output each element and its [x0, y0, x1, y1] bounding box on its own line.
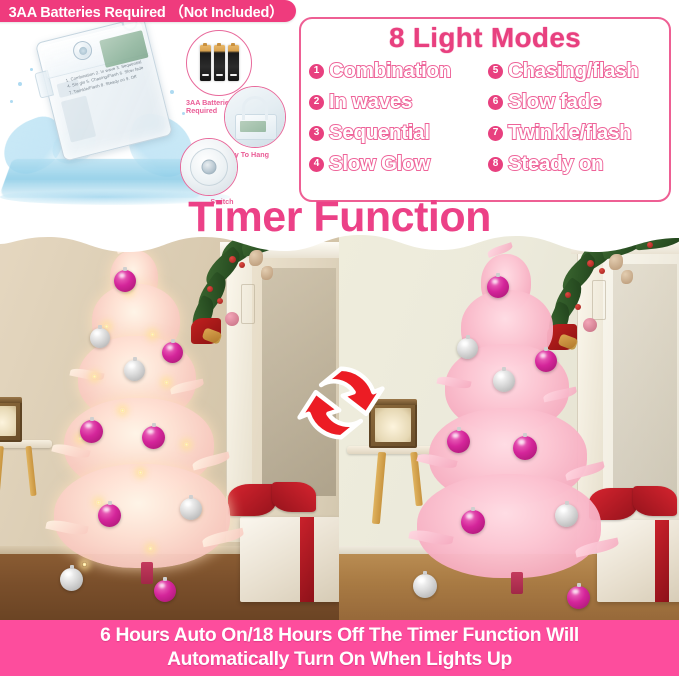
gift-ribbon	[300, 517, 314, 602]
mode-label: Steady on	[508, 152, 603, 176]
ornament-cap	[152, 423, 156, 427]
ornament-cap	[70, 565, 74, 569]
ornament-silver	[457, 338, 478, 359]
garland-pinecone	[261, 266, 273, 280]
ornament-cap	[577, 583, 581, 587]
table-leg	[0, 446, 4, 512]
ornament-cap	[90, 417, 94, 421]
ornament-silver	[124, 360, 145, 381]
led-bulb	[138, 470, 143, 475]
led-bulb	[164, 380, 169, 385]
garland-pinecone	[249, 250, 263, 266]
christmas-tree-lights-off	[417, 254, 617, 606]
christmas-tree-lights-on	[52, 250, 242, 602]
table-leg	[25, 446, 36, 496]
hanging-loop-icon	[242, 96, 268, 120]
mode-label: Slow fade	[508, 90, 601, 114]
ornament-pink	[535, 350, 557, 372]
mode-number-badge: 7	[488, 126, 503, 141]
tree-layer	[417, 474, 601, 578]
banner-line-1: 6 Hours Auto On/18 Hours Off The Timer F…	[100, 624, 579, 648]
ornament-cap	[466, 335, 470, 339]
mode-number-badge: 1	[309, 64, 324, 79]
led-bulb	[96, 500, 101, 505]
led-bulb	[150, 332, 155, 337]
mode-label: Chasing/flash	[508, 59, 639, 83]
ornament-silver	[90, 328, 110, 348]
batteries-required-text: 3AA Batteries Required （Not Included）	[9, 1, 284, 22]
ornament-cap	[471, 507, 475, 511]
ornament-pink	[98, 504, 121, 527]
banner-line-2: Automatically Turn On When Lights Up	[167, 648, 512, 672]
led-bulb	[82, 562, 87, 567]
ornament-pink	[142, 426, 165, 449]
lantern-decor	[0, 400, 22, 442]
mode-label: Twinkle/flash	[508, 121, 631, 145]
ornament-cap	[523, 433, 527, 437]
light-modes-panel: 8 Light Modes 1 Combination 5 Chasing/fl…	[299, 17, 671, 202]
ornament-pink	[447, 430, 470, 453]
table-leg	[372, 452, 386, 524]
water-droplet	[182, 112, 185, 115]
ornament-pink	[567, 586, 590, 609]
room-scene-right	[339, 232, 679, 620]
tree-layer	[54, 464, 230, 568]
switch-button-icon	[202, 160, 217, 175]
gift-box-left	[240, 517, 340, 602]
lantern-glass	[0, 406, 16, 436]
ornament-cap	[163, 577, 167, 581]
aa-batteries-icon	[187, 31, 251, 95]
ornament-silver	[180, 498, 202, 520]
refresh-cycle-icon	[296, 358, 386, 448]
photo-lights-off	[339, 232, 679, 620]
mode-item-6: 6 Slow fade	[488, 87, 663, 117]
mode-item-8: 8 Steady on	[488, 149, 663, 179]
led-bulb	[120, 408, 125, 413]
ornament-cap	[502, 367, 506, 371]
mode-item-5: 5 Chasing/flash	[488, 56, 663, 86]
ornament-silver	[555, 504, 578, 527]
ornament-cap	[123, 267, 127, 271]
side-table-left	[0, 382, 56, 532]
mode-number-badge: 3	[309, 126, 324, 141]
led-bulb	[148, 546, 153, 551]
battery-icon	[228, 45, 239, 81]
timer-function-title: Timer Function	[0, 196, 679, 239]
ornament-cap	[171, 339, 175, 343]
mode-item-7: 7 Twinkle/flash	[488, 118, 663, 148]
mode-label: Sequential	[329, 121, 430, 145]
ornament-cap	[108, 501, 112, 505]
ornament-cap	[496, 273, 500, 277]
infographic-page: 1. Combination 2. In wave 3. Sequential …	[0, 0, 679, 676]
ornament-cap	[423, 571, 427, 575]
batteries-required-banner: 3AA Batteries Required （Not Included）	[0, 0, 296, 22]
ornament-cap	[133, 357, 137, 361]
water-droplet	[170, 90, 174, 94]
mode-number-badge: 8	[488, 157, 503, 172]
hang-box-chip	[240, 121, 266, 132]
mode-number-badge: 4	[309, 157, 324, 172]
ornament-cap	[544, 347, 548, 351]
ornament-pink	[154, 580, 176, 602]
inset-switch	[180, 138, 238, 196]
light-modes-title: 8 Light Modes	[301, 22, 669, 54]
ornament-cap	[565, 501, 569, 505]
gift-ribbon	[655, 520, 669, 602]
lantern-top	[0, 397, 22, 403]
ornament-pink	[461, 510, 485, 534]
ornament-pink	[487, 276, 509, 298]
gift-bow	[633, 486, 677, 516]
room-scene-left	[0, 232, 340, 620]
timer-info-banner: 6 Hours Auto On/18 Hours Off The Timer F…	[0, 620, 679, 676]
mode-label: Slow Glow	[329, 152, 430, 176]
mode-item-4: 4 Slow Glow	[309, 149, 484, 179]
mode-item-1: 1 Combination	[309, 56, 484, 86]
mode-list-sticker: 1. Combination 2. In wave 3. Sequential …	[65, 58, 162, 148]
ornament-silver	[413, 574, 437, 598]
led-bulb	[92, 374, 97, 379]
ornament-cap	[98, 325, 102, 329]
mode-item-3: 3 Sequential	[309, 118, 484, 148]
battery-icon	[214, 45, 225, 81]
mode-label: In waves	[329, 90, 412, 114]
garland-berry	[647, 242, 653, 248]
battery-icon	[200, 45, 211, 81]
ornament-cap	[189, 495, 193, 499]
mode-number-badge: 6	[488, 95, 503, 110]
ornament-pink	[80, 420, 103, 443]
mode-number-badge: 2	[309, 95, 324, 110]
tree-trunk	[141, 562, 153, 584]
ornament-silver	[60, 568, 83, 591]
ornament-pink	[114, 270, 136, 292]
ornament-silver	[493, 370, 515, 392]
water-droplet	[10, 100, 13, 103]
photo-lights-on	[0, 232, 340, 620]
ornament-cap	[457, 427, 461, 431]
mode-item-2: 2 In waves	[309, 87, 484, 117]
light-modes-grid: 1 Combination 5 Chasing/flash 2 In waves…	[301, 54, 669, 179]
mode-number-badge: 5	[488, 64, 503, 79]
mode-label: Combination	[329, 59, 451, 83]
garland-pinecone	[621, 270, 633, 284]
led-bulb	[184, 442, 189, 447]
ornament-pink	[162, 342, 183, 363]
tree-trunk	[511, 572, 523, 594]
water-droplet	[18, 82, 22, 86]
water-droplet	[30, 68, 33, 71]
ornament-pink	[513, 436, 537, 460]
gift-bow	[272, 482, 316, 512]
